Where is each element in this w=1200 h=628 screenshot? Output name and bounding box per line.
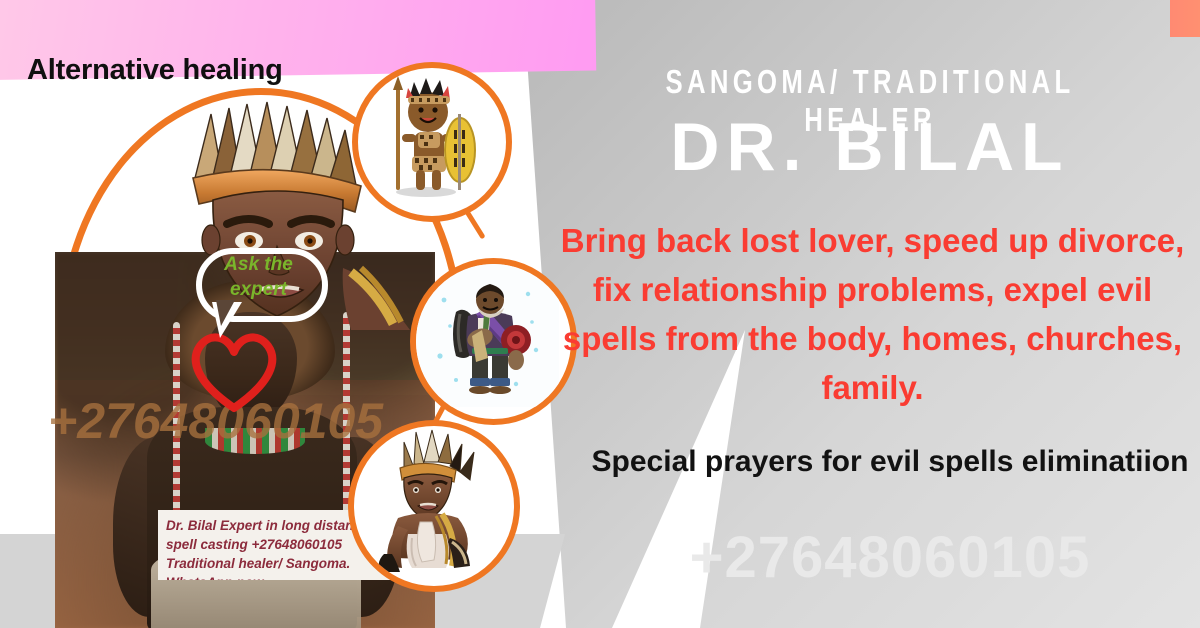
prayers-text: Special prayers for evil spells eliminat…: [580, 440, 1200, 484]
services-text: Bring back lost lover, speed up divorce,…: [550, 216, 1195, 412]
speech-bubble-text: Ask the expert: [206, 252, 311, 302]
circle-zulu-warrior: [352, 62, 512, 222]
speech-bubble-tail-inner: [216, 300, 235, 326]
circle-crouching-warrior: [348, 420, 520, 592]
page-title: Alternative healing: [27, 54, 283, 87]
brand-name: DR. BILAL: [540, 108, 1200, 186]
heart-outline-icon: [186, 328, 282, 414]
poster-canvas: Alternative healing +27648060105 Dr. Bil…: [0, 0, 1200, 628]
ghost-phone-number: +27648060105: [570, 524, 1200, 591]
right-text-column: SANGOMA/ TRADITIONAL HEALER DR. BILAL Br…: [540, 0, 1200, 628]
